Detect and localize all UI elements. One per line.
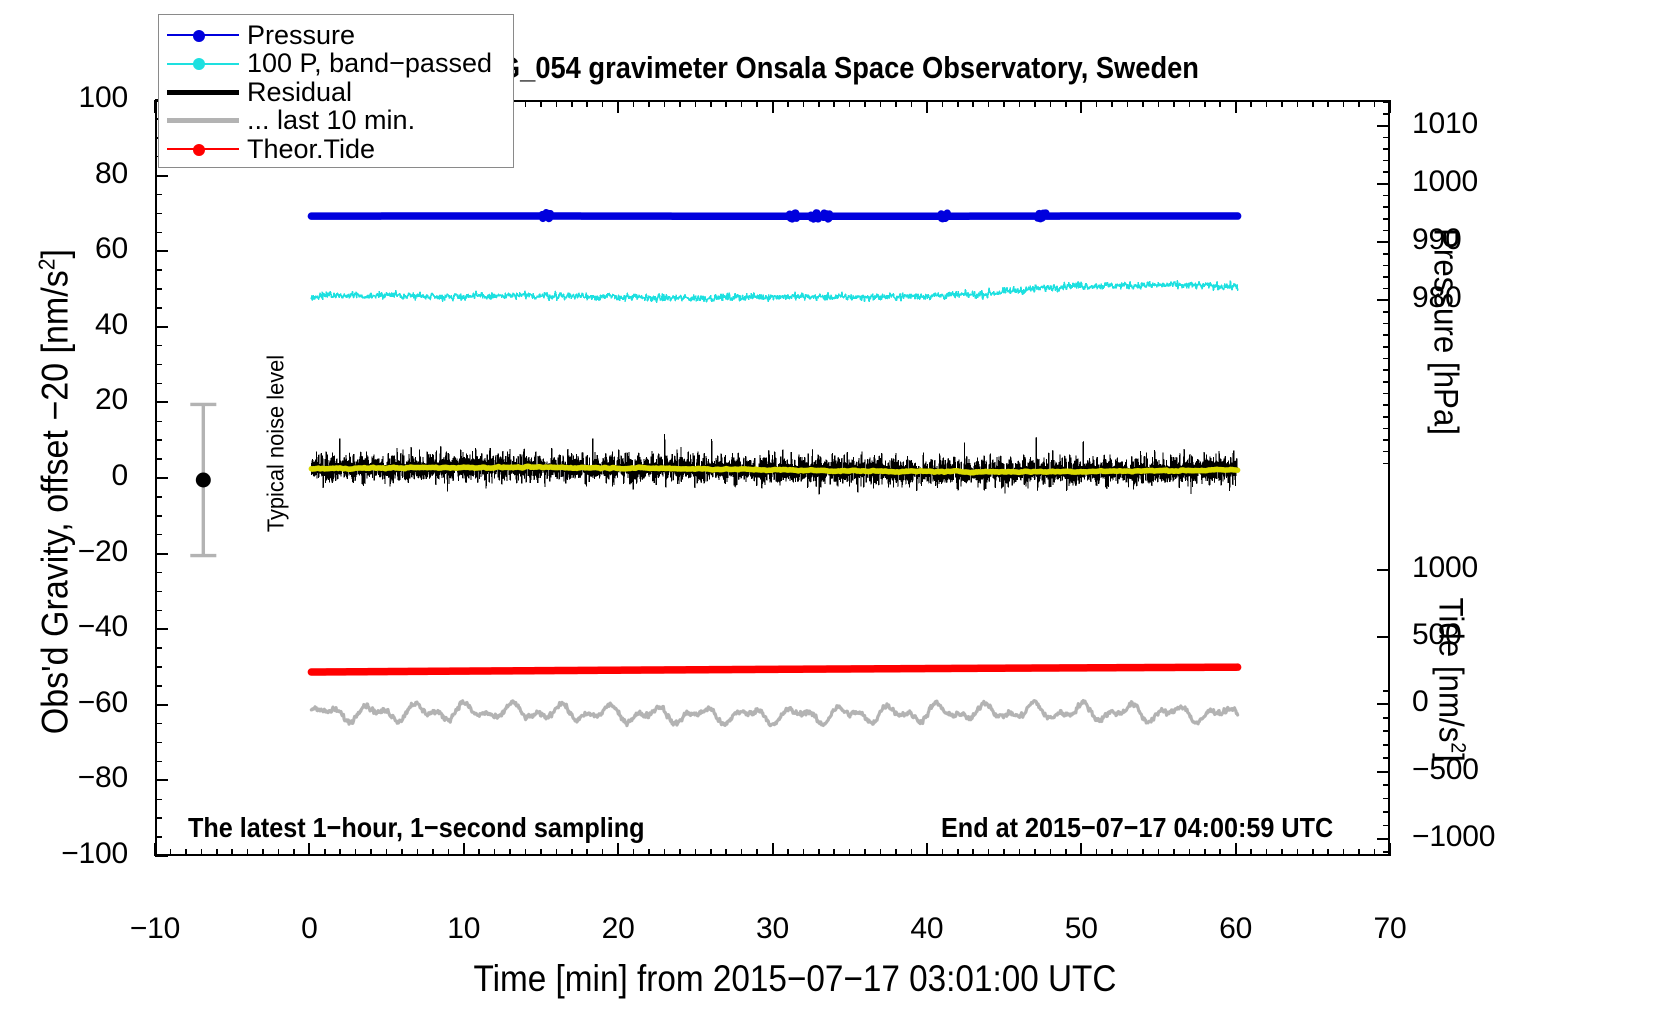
- y-tick-minor-left: [155, 799, 162, 801]
- x-tick-minor-top: [1003, 100, 1005, 107]
- x-tick-minor: [880, 849, 882, 856]
- x-tick-minor-top: [586, 100, 588, 107]
- x-tick-minor: [1358, 849, 1360, 856]
- x-tick-minor-top: [756, 100, 758, 107]
- x-tick-minor-top: [741, 100, 743, 107]
- y-tick-minor-right-pressure: [1383, 428, 1390, 430]
- x-tick-minor: [633, 849, 635, 856]
- x-tick-minor: [247, 849, 249, 856]
- y-tick-minor-left: [155, 439, 162, 441]
- y-tick-minor-left: [155, 572, 162, 574]
- y-tick-minor-right-tide: [1383, 784, 1390, 786]
- x-tick-minor: [1158, 849, 1160, 856]
- y-tick-minor-left: [155, 591, 162, 593]
- x-tick-minor: [602, 849, 604, 856]
- y-tick-minor-left: [155, 666, 162, 668]
- y-tick-minor-right-pressure: [1383, 125, 1390, 127]
- x-tick-minor: [972, 849, 974, 856]
- legend-item-3[interactable]: ... last 10 min.: [159, 107, 513, 136]
- x-tick-minor: [741, 849, 743, 856]
- series-pressure: [311, 213, 1237, 219]
- x-tick-minor: [988, 849, 990, 856]
- y-tick-minor-right-pressure: [1383, 300, 1390, 302]
- y-tick-minor-right-tide: [1383, 798, 1390, 800]
- y-tick-minor-right-pressure: [1383, 171, 1390, 173]
- y-tick-minor-left: [155, 647, 162, 649]
- y-tick-major-left: [155, 477, 168, 479]
- y-tick-minor-right-pressure: [1383, 206, 1390, 208]
- y-tick-minor-left: [155, 610, 162, 612]
- y-tick-minor-right-pressure: [1383, 253, 1390, 255]
- series-pressure-bandpassed: [311, 281, 1237, 302]
- y-tick-major-right-tide: [1377, 636, 1390, 638]
- x-tick-major: [772, 843, 774, 856]
- y-tick-minor-left: [155, 458, 162, 460]
- x-tick-label: 40: [867, 912, 987, 946]
- y-tick-minor-right-pressure: [1383, 334, 1390, 336]
- y-axis-title-left-exponent: 2: [33, 259, 59, 271]
- y-axis-title-right-tide-exponent: 2: [1447, 742, 1470, 753]
- x-tick-minor: [293, 849, 295, 856]
- y-axis-title-right-pressure: Pressure [hPa]: [1426, 148, 1465, 516]
- y-tick-minor-right-tide: [1383, 757, 1390, 759]
- x-tick-minor-top: [1019, 100, 1021, 107]
- series-theor-tide: [311, 667, 1237, 672]
- x-tick-label: 60: [1176, 912, 1296, 946]
- x-tick-minor-top: [818, 100, 820, 107]
- x-tick-minor: [1250, 849, 1252, 856]
- x-tick-minor-top: [1189, 100, 1191, 107]
- x-tick-minor-top: [602, 100, 604, 107]
- y-axis-title-right-tide-tail: ]: [1431, 753, 1469, 762]
- series-residual: [311, 434, 1237, 494]
- y-tick-minor-right-pressure: [1383, 265, 1390, 267]
- y-tick-minor-right-pressure: [1383, 102, 1390, 104]
- y-tick-minor-right-tide: [1383, 717, 1390, 719]
- x-tick-minor: [1142, 849, 1144, 856]
- y-tick-minor-left: [155, 817, 162, 819]
- y-tick-minor-right-pressure: [1383, 393, 1390, 395]
- x-tick-minor: [1050, 849, 1052, 856]
- legend-line-icon: [159, 107, 247, 135]
- x-tick-minor-top: [695, 100, 697, 107]
- y-tick-minor-left: [155, 307, 162, 309]
- x-tick-minor: [1219, 849, 1221, 856]
- y-tick-minor-right-pressure: [1383, 369, 1390, 371]
- y-tick-minor-left: [155, 515, 162, 517]
- legend-item-2[interactable]: Residual: [159, 78, 513, 107]
- y-tick-minor-right-pressure: [1383, 241, 1390, 243]
- x-tick-major: [463, 843, 465, 856]
- x-tick-minor: [1096, 849, 1098, 856]
- x-tick-minor-top: [664, 100, 666, 107]
- y-tick-minor-right-pressure: [1383, 404, 1390, 406]
- noise-level-label: Typical noise level: [263, 301, 290, 586]
- x-tick-minor-top: [803, 100, 805, 107]
- y-tick-minor-right-pressure: [1383, 463, 1390, 465]
- annotation-bottom-right: End at 2015−07−17 04:00:59 UTC: [941, 812, 1333, 844]
- y-tick-minor-right-tide: [1383, 744, 1390, 746]
- y-tick-major-left: [155, 855, 168, 857]
- legend-item-label: Pressure: [247, 20, 355, 51]
- x-tick-minor-top: [525, 100, 527, 107]
- x-tick-minor-top: [1219, 100, 1221, 107]
- y-tick-minor-left: [155, 496, 162, 498]
- x-tick-minor: [648, 849, 650, 856]
- y-tick-minor-left: [155, 213, 162, 215]
- y-tick-major-left: [155, 175, 168, 177]
- x-tick-minor-top: [833, 100, 835, 107]
- y-axis-title-left-text: Obs'd Gravity, offset −20 [nm/s: [35, 270, 76, 734]
- y-tick-minor-right-tide: [1383, 825, 1390, 827]
- y-tick-label-right-tide: −1000: [1412, 820, 1552, 854]
- y-tick-minor-right-tide: [1383, 851, 1390, 853]
- x-tick-minor: [664, 849, 666, 856]
- y-tick-major-left: [155, 326, 168, 328]
- y-tick-minor-left: [155, 723, 162, 725]
- x-tick-minor: [957, 849, 959, 856]
- x-tick-label: 20: [558, 912, 678, 946]
- x-tick-minor: [942, 849, 944, 856]
- x-tick-minor: [1189, 849, 1191, 856]
- x-tick-label: 50: [1021, 912, 1141, 946]
- y-tick-major-left: [155, 250, 168, 252]
- x-tick-minor: [170, 849, 172, 856]
- x-tick-label: 70: [1330, 912, 1450, 946]
- x-tick-minor-top: [633, 100, 635, 107]
- x-tick-minor-top: [1343, 100, 1345, 107]
- y-tick-minor-right-pressure: [1383, 230, 1390, 232]
- x-tick-major: [1235, 843, 1237, 856]
- x-tick-minor: [278, 849, 280, 856]
- x-tick-minor: [849, 849, 851, 856]
- x-tick-minor: [231, 849, 233, 856]
- plot-svg: [157, 102, 1392, 858]
- y-tick-minor-right-pressure: [1383, 218, 1390, 220]
- y-tick-major-right-tide: [1377, 569, 1390, 571]
- y-tick-minor-right-pressure: [1383, 160, 1390, 162]
- y-tick-minor-left: [155, 685, 162, 687]
- legend-item-label: Theor.Tide: [247, 134, 375, 165]
- x-tick-minor-top: [1127, 100, 1129, 107]
- legend-line: [167, 90, 239, 95]
- x-tick-minor-top: [988, 100, 990, 107]
- y-tick-major-left: [155, 553, 168, 555]
- y-axis-title-right-tide: Tide [nm/s2]: [1430, 551, 1469, 809]
- x-tick-minor: [556, 849, 558, 856]
- x-tick-minor: [1266, 849, 1268, 856]
- x-tick-minor: [1127, 849, 1129, 856]
- y-tick-minor-right-tide: [1383, 811, 1390, 813]
- legend-item-label: Residual: [247, 77, 352, 108]
- x-tick-minor: [1343, 849, 1345, 856]
- x-tick-minor: [1003, 849, 1005, 856]
- y-tick-minor-right-tide: [1383, 838, 1390, 840]
- x-tick-minor: [1297, 849, 1299, 856]
- x-tick-minor: [803, 849, 805, 856]
- x-tick-minor: [1019, 849, 1021, 856]
- y-tick-minor-right-pressure: [1383, 451, 1390, 453]
- y-tick-minor-right-pressure: [1383, 346, 1390, 348]
- x-tick-minor: [787, 849, 789, 856]
- x-tick-minor: [818, 849, 820, 856]
- y-tick-minor-right-pressure: [1383, 288, 1390, 290]
- x-tick-minor-top: [1158, 100, 1160, 107]
- x-tick-minor-top: [1204, 100, 1206, 107]
- x-tick-minor: [201, 849, 203, 856]
- plot-area: [155, 100, 1390, 856]
- x-tick-minor: [509, 849, 511, 856]
- x-tick-minor-top: [1250, 100, 1252, 107]
- x-tick-minor-top: [1281, 100, 1283, 107]
- x-tick-minor-top: [895, 100, 897, 107]
- y-tick-minor-right-pressure: [1383, 381, 1390, 383]
- legend-marker-dot: [193, 144, 205, 156]
- x-tick-minor-top: [942, 100, 944, 107]
- x-tick-label: 0: [249, 912, 369, 946]
- y-axis-title-right-tide-text: Tide [nm/s: [1431, 597, 1469, 742]
- legend-item-4[interactable]: Theor.Tide: [159, 135, 513, 164]
- legend-line-marker-icon: [159, 21, 247, 49]
- y-tick-major-left: [155, 628, 168, 630]
- x-tick-minor: [710, 849, 712, 856]
- x-tick-minor-top: [1096, 100, 1098, 107]
- legend-marker-dot: [193, 58, 205, 70]
- legend-line-marker-icon: [159, 50, 247, 78]
- legend-item-label: ... last 10 min.: [247, 105, 415, 136]
- y-tick-minor-right-pressure: [1383, 113, 1390, 115]
- y-tick-minor-left: [155, 534, 162, 536]
- y-tick-major-left: [155, 779, 168, 781]
- x-tick-minor: [833, 849, 835, 856]
- x-tick-minor: [262, 849, 264, 856]
- y-tick-minor-left: [155, 194, 162, 196]
- legend-line-marker-icon: [159, 135, 247, 163]
- x-tick-minor: [571, 849, 573, 856]
- x-tick-minor-top: [864, 100, 866, 107]
- y-tick-minor-right-pressure: [1383, 323, 1390, 325]
- error-bar-center-dot: [196, 473, 211, 488]
- x-tick-minor-top: [1327, 100, 1329, 107]
- x-tick-major-top: [617, 100, 619, 113]
- x-tick-minor-top: [1050, 100, 1052, 107]
- y-tick-minor-right-tide: [1383, 690, 1390, 692]
- y-tick-minor-right-tide: [1383, 771, 1390, 773]
- x-tick-major-top: [154, 100, 156, 113]
- x-tick-minor-top: [1111, 100, 1113, 107]
- x-tick-major-top: [772, 100, 774, 113]
- x-tick-minor: [386, 849, 388, 856]
- x-tick-minor-top: [1312, 100, 1314, 107]
- x-tick-minor: [324, 849, 326, 856]
- y-tick-minor-right-pressure: [1383, 276, 1390, 278]
- legend[interactable]: Pressure100 P, band−passedResidual... la…: [158, 14, 514, 168]
- x-tick-minor-top: [1358, 100, 1360, 107]
- x-tick-major-top: [926, 100, 928, 113]
- x-tick-minor: [864, 849, 866, 856]
- x-tick-minor: [586, 849, 588, 856]
- y-tick-minor-left: [155, 761, 162, 763]
- legend-item-label: 100 P, band−passed: [247, 48, 492, 79]
- x-tick-minor-top: [1065, 100, 1067, 107]
- x-tick-minor-top: [972, 100, 974, 107]
- x-tick-minor: [911, 849, 913, 856]
- x-tick-minor-top: [787, 100, 789, 107]
- x-tick-minor: [725, 849, 727, 856]
- x-tick-minor: [756, 849, 758, 856]
- x-tick-minor: [1034, 849, 1036, 856]
- y-tick-minor-right-tide: [1383, 730, 1390, 732]
- y-tick-minor-right-pressure: [1383, 439, 1390, 441]
- y-tick-label-left: 100: [8, 81, 128, 115]
- series-last-10-min: [311, 701, 1237, 726]
- x-tick-minor: [494, 849, 496, 856]
- y-tick-minor-right-pressure: [1383, 195, 1390, 197]
- x-tick-major: [308, 843, 310, 856]
- x-tick-minor: [1327, 849, 1329, 856]
- x-tick-minor-top: [540, 100, 542, 107]
- x-tick-label: 30: [713, 912, 833, 946]
- x-tick-minor-top: [679, 100, 681, 107]
- x-tick-minor-top: [1142, 100, 1144, 107]
- x-tick-minor: [1281, 849, 1283, 856]
- y-tick-minor-left: [155, 288, 162, 290]
- x-tick-minor-top: [849, 100, 851, 107]
- x-tick-minor-top: [1034, 100, 1036, 107]
- x-tick-minor-top: [710, 100, 712, 107]
- y-tick-minor-left: [155, 269, 162, 271]
- y-tick-label-right-pressure: 1010: [1412, 107, 1552, 141]
- x-tick-minor: [432, 849, 434, 856]
- y-tick-minor-left: [155, 345, 162, 347]
- y-tick-minor-left: [155, 836, 162, 838]
- x-tick-minor-top: [1374, 100, 1376, 107]
- y-tick-minor-left: [155, 421, 162, 423]
- x-tick-minor: [355, 849, 357, 856]
- x-tick-minor-top: [1297, 100, 1299, 107]
- y-tick-minor-right-pressure: [1383, 183, 1390, 185]
- x-tick-minor-top: [648, 100, 650, 107]
- x-tick-minor: [895, 849, 897, 856]
- x-tick-minor: [1312, 849, 1314, 856]
- x-tick-minor: [339, 849, 341, 856]
- legend-line-icon: [159, 78, 247, 106]
- x-tick-minor: [185, 849, 187, 856]
- legend-item-0[interactable]: Pressure: [159, 21, 513, 50]
- x-tick-major: [617, 843, 619, 856]
- x-tick-minor: [525, 849, 527, 856]
- x-tick-minor: [401, 849, 403, 856]
- y-axis-title-left: Obs'd Gravity, offset −20 [nm/s2]: [33, 124, 76, 860]
- x-tick-minor: [216, 849, 218, 856]
- x-tick-minor: [679, 849, 681, 856]
- x-tick-minor: [448, 849, 450, 856]
- y-tick-minor-right-pressure: [1383, 311, 1390, 313]
- x-tick-label: 10: [404, 912, 524, 946]
- legend-marker-dot: [193, 30, 205, 42]
- x-tick-minor-top: [1173, 100, 1175, 107]
- y-tick-minor-right-pressure: [1383, 358, 1390, 360]
- y-tick-minor-left: [155, 383, 162, 385]
- x-tick-minor: [417, 849, 419, 856]
- x-tick-major: [1389, 843, 1391, 856]
- x-tick-minor-top: [725, 100, 727, 107]
- x-tick-minor-top: [880, 100, 882, 107]
- annotation-bottom-left: The latest 1−hour, 1−second sampling: [188, 812, 645, 844]
- x-tick-minor: [1173, 849, 1175, 856]
- x-tick-minor: [695, 849, 697, 856]
- error-bar-typical-noise: [190, 404, 216, 555]
- x-tick-minor: [1111, 849, 1113, 856]
- y-tick-minor-right-pressure: [1383, 416, 1390, 418]
- x-tick-minor-top: [957, 100, 959, 107]
- x-tick-major-top: [1235, 100, 1237, 113]
- x-tick-minor: [1065, 849, 1067, 856]
- x-tick-minor-top: [1266, 100, 1268, 107]
- x-tick-minor-top: [911, 100, 913, 107]
- x-tick-minor: [540, 849, 542, 856]
- x-tick-minor: [478, 849, 480, 856]
- x-tick-label: −10: [95, 912, 215, 946]
- y-tick-minor-left: [155, 232, 162, 234]
- x-tick-minor-top: [571, 100, 573, 107]
- legend-line: [167, 118, 239, 123]
- y-tick-minor-right-pressure: [1383, 148, 1390, 150]
- y-tick-minor-left: [155, 364, 162, 366]
- y-tick-minor-left: [155, 742, 162, 744]
- x-tick-minor: [1204, 849, 1206, 856]
- x-tick-minor: [1374, 849, 1376, 856]
- x-tick-major-top: [1080, 100, 1082, 113]
- x-axis-title: Time [min] from 2015−07−17 03:01:00 UTC: [80, 958, 1511, 1000]
- x-tick-minor-top: [556, 100, 558, 107]
- y-tick-minor-right-tide: [1383, 704, 1390, 706]
- y-tick-major-left: [155, 704, 168, 706]
- x-tick-major: [926, 843, 928, 856]
- x-tick-major: [1080, 843, 1082, 856]
- legend-item-1[interactable]: 100 P, band−passed: [159, 50, 513, 79]
- x-tick-minor: [370, 849, 372, 856]
- y-tick-major-left: [155, 401, 168, 403]
- y-tick-minor-right-pressure: [1383, 137, 1390, 139]
- y-axis-title-left-tail: ]: [35, 249, 76, 258]
